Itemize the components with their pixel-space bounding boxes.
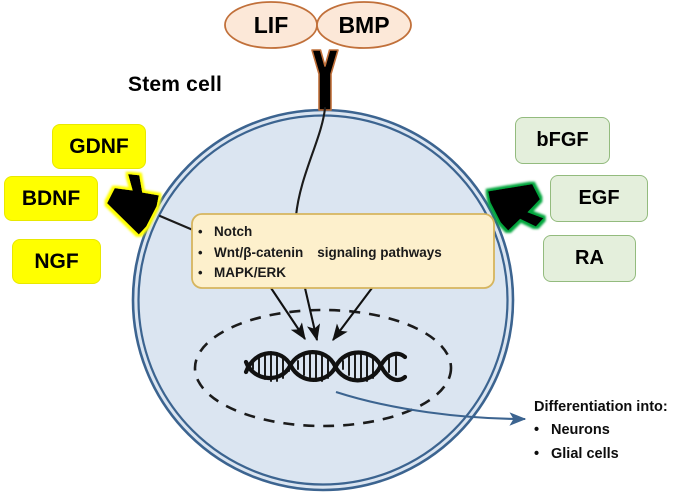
- figure-canvas: Stem cell LIF BMP GDNF BDNF NGF bFGF EGF…: [0, 0, 685, 494]
- bullet-icon: •: [198, 222, 214, 242]
- differentiation-title: Differentiation into:: [534, 396, 668, 419]
- ligand-chip-gdnf: GDNF: [52, 124, 146, 169]
- ligand-label-bmp: BMP: [317, 2, 411, 48]
- pathway-item-wnt: Wnt/β-catenin: [214, 243, 303, 264]
- pathway-item-notch: Notch: [214, 222, 252, 243]
- outcome-item-glial-cells: Glial cells: [551, 443, 619, 466]
- pathway-list: • Notch • Wnt/β-catenin signaling pathwa…: [198, 222, 488, 284]
- differentiation-outcome: Differentiation into: • Neurons • Glial …: [534, 396, 668, 466]
- bullet-icon: •: [198, 263, 214, 283]
- ligand-chip-bfgf: bFGF: [515, 117, 610, 164]
- pathway-list-item: • MAPK/ERK: [198, 263, 488, 284]
- pathway-list-item: • Notch: [198, 222, 488, 243]
- bullet-icon: •: [534, 443, 551, 466]
- cell-body: [133, 110, 513, 490]
- bullet-icon: •: [534, 419, 551, 442]
- ligand-chip-egf: EGF: [550, 175, 648, 222]
- pathway-list-item: • Wnt/β-catenin signaling pathways: [198, 243, 488, 264]
- ligand-chip-ra: RA: [543, 235, 636, 282]
- ligand-chip-ngf: NGF: [12, 239, 101, 284]
- ligand-label-lif: LIF: [225, 2, 317, 48]
- outcome-item-neurons: Neurons: [551, 419, 610, 442]
- pathway-suffix: signaling pathways: [317, 243, 442, 264]
- pathway-item-mapk: MAPK/ERK: [214, 263, 286, 284]
- ligand-chip-bdnf: BDNF: [4, 176, 98, 221]
- bullet-icon: •: [198, 243, 214, 263]
- outcome-list-item: • Glial cells: [534, 443, 668, 466]
- receptor-top-icon: [312, 50, 338, 110]
- outcome-list-item: • Neurons: [534, 419, 668, 442]
- page-title: Stem cell: [128, 74, 222, 96]
